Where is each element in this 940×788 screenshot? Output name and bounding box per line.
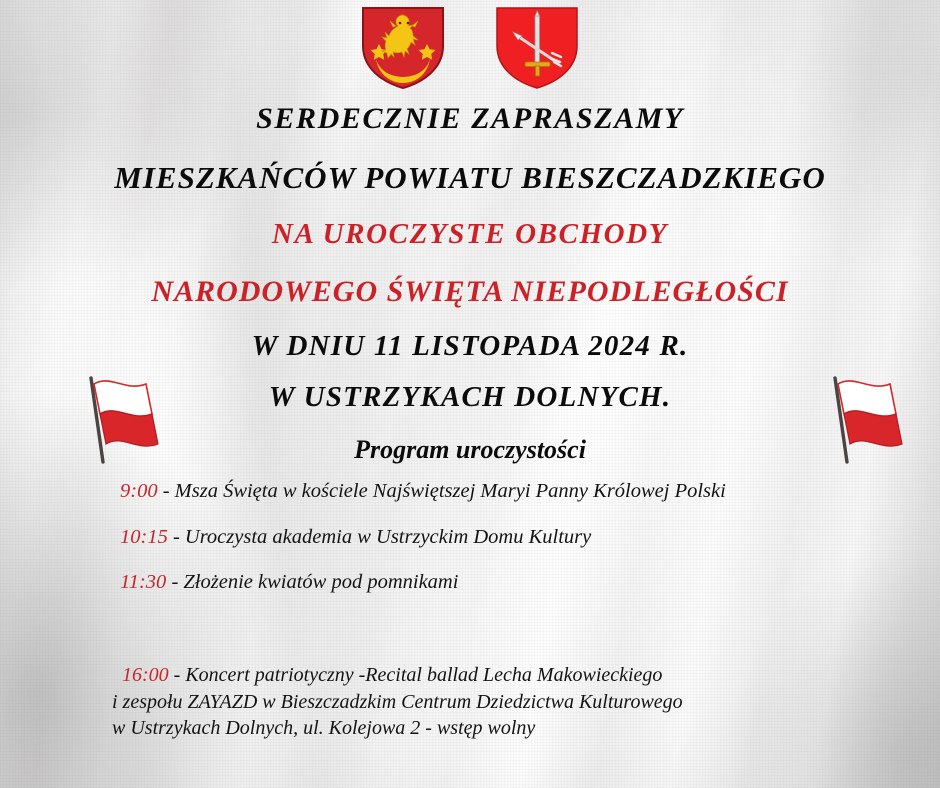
program-item-separator: - — [158, 480, 175, 502]
heading-line-1: SERDECZNIE ZAPRASZAMY — [0, 104, 940, 134]
concert-time: 16:00 — [122, 664, 169, 686]
heading-line-5-date: W DNIU 11 LISTOPADA 2024 R. — [0, 332, 940, 361]
program-item: 10:15 - Uroczysta akademia w Ustrzyckim … — [120, 527, 920, 548]
powiat-bieszczadzki-coat-of-arms-icon — [360, 6, 446, 90]
program-item: 11:30 - Złożenie kwiatów pod pomnikami — [120, 572, 920, 593]
program-item-text: Złożenie kwiatów pod pomnikami — [183, 571, 458, 593]
concert-line-2: i zespołu ZAYAZD w Bieszczadzkim Centrum… — [112, 689, 922, 716]
heading-line-4: NARODOWEGO ŚWIĘTA NIEPODLEGŁOŚCI — [0, 277, 940, 307]
invitation-poster: SERDECZNIE ZAPRASZAMY MIESZKAŃCÓW POWIAT… — [0, 0, 940, 788]
heading-line-2: MIESZKAŃCÓW POWIATU BIESZCZADZKIEGO — [0, 162, 940, 193]
concert-block: 16:00 - Koncert patriotyczny -Recital ba… — [112, 662, 922, 742]
program-item-time: 10:15 — [120, 526, 168, 548]
program-item: 9:00 - Msza Święta w kościele Najświętsz… — [120, 481, 920, 502]
program-title: Program uroczystości — [0, 437, 940, 463]
program-item-text: Msza Święta w kościele Najświętszej Mary… — [175, 480, 726, 502]
program-list: 9:00 - Msza Święta w kościele Najświętsz… — [120, 481, 920, 618]
program-item-time: 9:00 — [120, 480, 158, 502]
ustrzyki-dolne-coat-of-arms-icon — [494, 6, 580, 90]
program-item-separator: - — [166, 571, 183, 593]
program-item-time: 11:30 — [120, 571, 166, 593]
program-item-separator: - — [168, 526, 185, 548]
concert-line-1: 16:00 - Koncert patriotyczny -Recital ba… — [112, 662, 922, 689]
concert-separator: - — [169, 664, 186, 686]
concert-line-1-text: Koncert patriotyczny -Recital ballad Lec… — [185, 664, 662, 686]
heading-line-3: NA UROCZYSTE OBCHODY — [0, 220, 940, 249]
program-item-text: Uroczysta akademia w Ustrzyckim Domu Kul… — [185, 526, 591, 548]
concert-line-3: w Ustrzykach Dolnych, ul. Kolejowa 2 - w… — [112, 715, 922, 742]
coats-of-arms-row — [0, 6, 940, 90]
